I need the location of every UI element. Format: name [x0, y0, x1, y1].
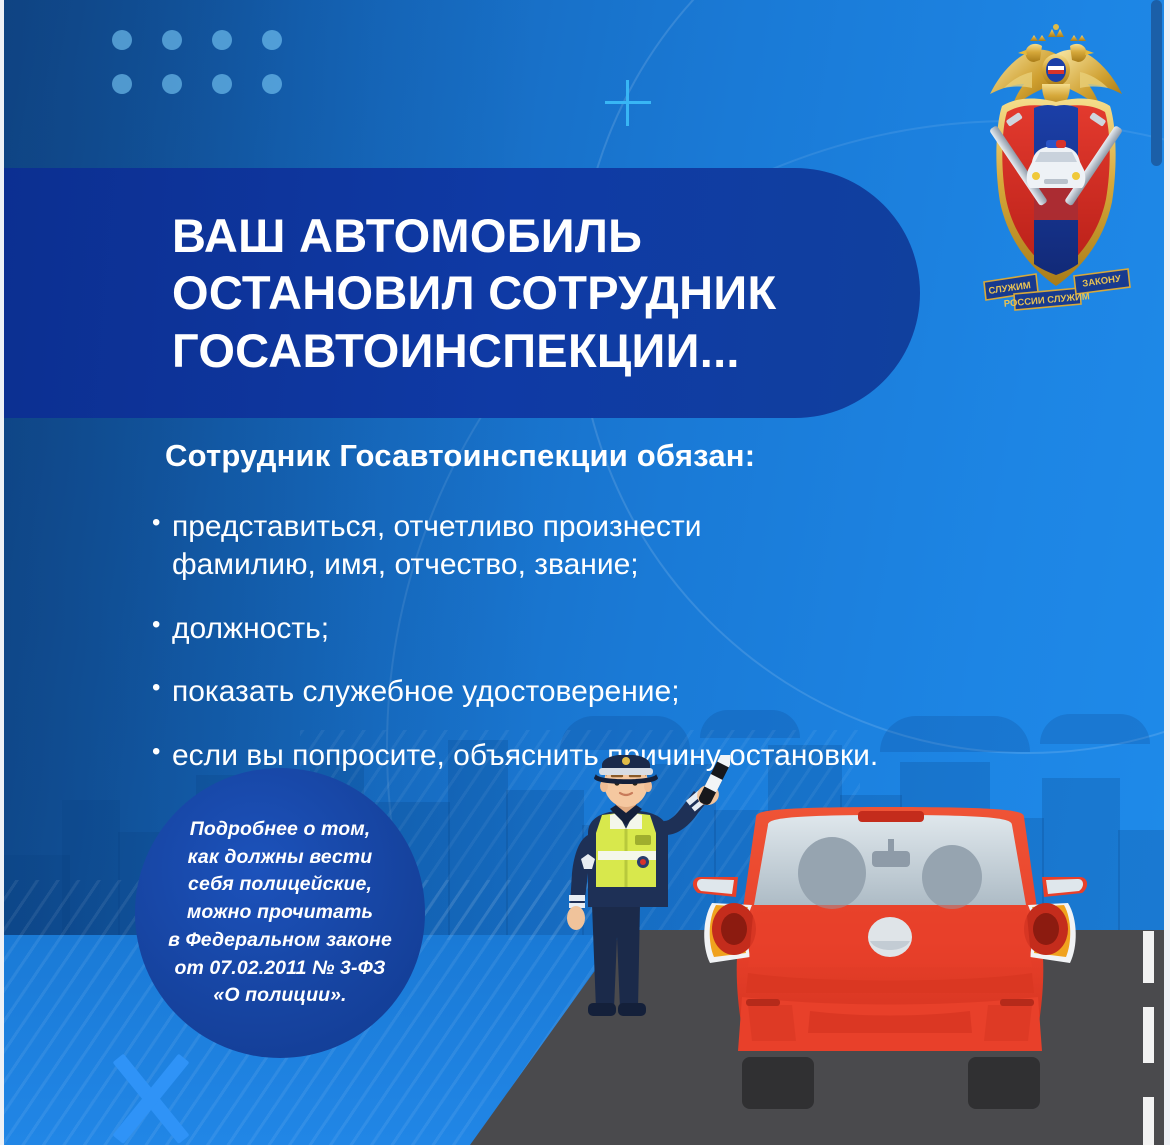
law-reference-text: Подробнее о том, как должны вести себя п…	[168, 816, 392, 1010]
traffic-police-officer-illustration	[540, 755, 730, 1035]
red-car-illustration	[690, 807, 1090, 1117]
double-headed-eagle	[990, 24, 1122, 110]
tail-light-right	[1024, 903, 1076, 963]
scrollbar-track[interactable]	[1150, 0, 1164, 1145]
section-subtitle: Сотрудник Госавтоинспекции обязан:	[165, 438, 755, 474]
dot	[212, 30, 232, 50]
header-banner: ВАШ АВТОМОБИЛЬ ОСТАНОВИЛ СОТРУДНИК ГОСАВ…	[0, 168, 920, 418]
dot	[212, 74, 232, 94]
page-edge-left	[0, 0, 4, 1145]
emblem-shield	[989, 99, 1123, 286]
scrollbar-thumb[interactable]	[1151, 0, 1162, 166]
dot	[162, 30, 182, 50]
page-edge-right	[1164, 0, 1170, 1145]
chevron-down-icon	[85, 1050, 210, 1145]
dot	[262, 74, 282, 94]
list-item: представиться, отчетливо произнести фами…	[152, 508, 1022, 585]
mvd-emblem: СЛУЖИМ РОССИИ СЛУЖИМ ЗАКОНУ	[970, 24, 1142, 314]
infographic-poster: ВАШ АВТОМОБИЛЬ ОСТАНОВИЛ СОТРУДНИК ГОСАВ…	[0, 0, 1170, 1145]
dot	[162, 74, 182, 94]
list-item: показать служебное удостоверение;	[152, 673, 1022, 711]
decorative-dot-grid	[112, 30, 282, 94]
dot	[112, 30, 132, 50]
dot	[262, 30, 282, 50]
police-cap	[594, 755, 658, 784]
law-reference-badge: Подробнее о том, как должны вести себя п…	[135, 768, 425, 1058]
plus-icon	[605, 80, 651, 126]
page-title: ВАШ АВТОМОБИЛЬ ОСТАНОВИЛ СОТРУДНИК ГОСАВ…	[172, 207, 777, 379]
list-item: должность;	[152, 610, 1022, 648]
dot	[112, 74, 132, 94]
